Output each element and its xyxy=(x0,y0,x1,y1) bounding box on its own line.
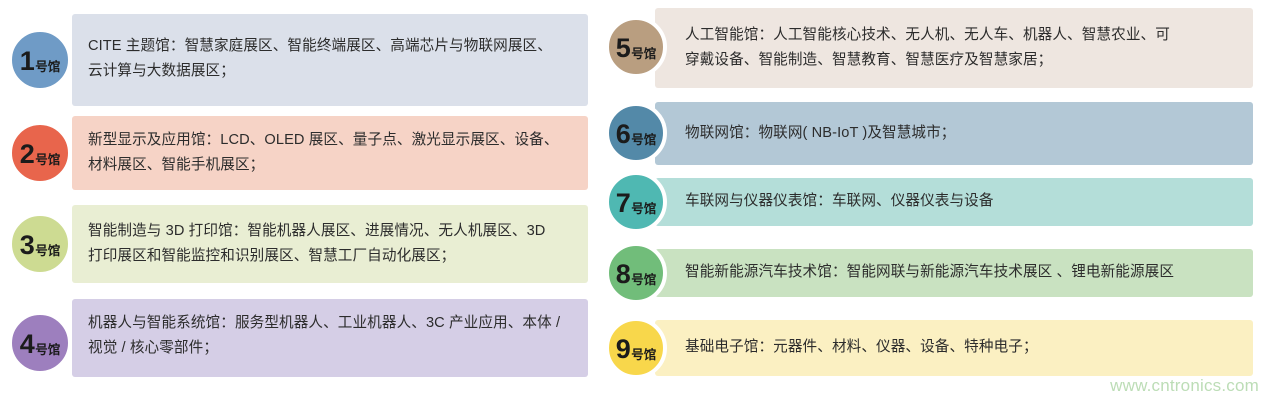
hall-suffix: 号馆 xyxy=(631,349,656,362)
hall-number: 7 xyxy=(616,190,631,217)
hall-suffix: 号馆 xyxy=(35,154,60,167)
hall-badge-inner: 1 号馆 xyxy=(20,48,61,75)
hall-description: 物联网馆：物联网( NB-IoT )及智慧城市； xyxy=(685,121,1245,146)
hall-suffix: 号馆 xyxy=(631,134,656,147)
hall-row[interactable]: 1 号馆 CITE 主题馆：智慧家庭展区、智能终端展区、高端芯片与物联网展区、 … xyxy=(0,14,600,106)
hall-row[interactable]: 2 号馆 新型显示及应用馆：LCD、OLED 展区、量子点、激光显示展区、设备、… xyxy=(0,116,600,190)
hall-number: 1 xyxy=(20,48,35,75)
hall-badge-inner: 4 号馆 xyxy=(20,331,61,358)
hall-row[interactable]: 3 号馆 智能制造与 3D 打印馆：智能机器人展区、进展情况、无人机展区、3D … xyxy=(0,205,600,283)
site-watermark: www.cntronics.com xyxy=(1110,376,1259,396)
hall-number: 2 xyxy=(20,141,35,168)
hall-badge[interactable]: 1 号馆 xyxy=(8,28,72,92)
hall-description: 基础电子馆：元器件、材料、仪器、设备、特种电子； xyxy=(685,335,1245,360)
hall-suffix: 号馆 xyxy=(35,61,60,74)
hall-row[interactable]: 4 号馆 机器人与智能系统馆：服务型机器人、工业机器人、3C 产业应用、本体 /… xyxy=(0,299,600,377)
hall-badge[interactable]: 9 号馆 xyxy=(605,317,667,379)
hall-suffix: 号馆 xyxy=(35,344,60,357)
hall-suffix: 号馆 xyxy=(631,48,656,61)
hall-badge-inner: 3 号馆 xyxy=(20,232,61,259)
hall-number: 8 xyxy=(616,261,631,288)
hall-badge-inner: 9 号馆 xyxy=(616,336,657,363)
hall-badge-inner: 8 号馆 xyxy=(616,261,657,288)
hall-row[interactable]: 7 号馆 车联网与仪器仪表馆：车联网、仪器仪表与设备 xyxy=(600,178,1269,226)
hall-badge[interactable]: 7 号馆 xyxy=(605,171,667,233)
hall-badge-inner: 6 号馆 xyxy=(616,121,657,148)
hall-description: 车联网与仪器仪表馆：车联网、仪器仪表与设备 xyxy=(685,189,1245,214)
hall-column-right: 5 号馆 人工智能馆：人工智能核心技术、无人机、无人车、机器人、智慧农业、可 穿… xyxy=(600,0,1269,404)
hall-description: CITE 主题馆：智慧家庭展区、智能终端展区、高端芯片与物联网展区、 云计算与大… xyxy=(88,34,580,84)
hall-row[interactable]: 9 号馆 基础电子馆：元器件、材料、仪器、设备、特种电子； xyxy=(600,320,1269,376)
hall-badge[interactable]: 6 号馆 xyxy=(605,102,667,164)
hall-suffix: 号馆 xyxy=(35,245,60,258)
hall-badge[interactable]: 8 号馆 xyxy=(605,242,667,304)
hall-badge-inner: 2 号馆 xyxy=(20,141,61,168)
hall-number: 6 xyxy=(616,121,631,148)
hall-description: 智能制造与 3D 打印馆：智能机器人展区、进展情况、无人机展区、3D 打印展区和… xyxy=(88,219,580,269)
hall-suffix: 号馆 xyxy=(631,203,656,216)
hall-badge-inner: 7 号馆 xyxy=(616,190,657,217)
hall-description: 机器人与智能系统馆：服务型机器人、工业机器人、3C 产业应用、本体 / 视觉 /… xyxy=(88,311,580,361)
hall-row[interactable]: 5 号馆 人工智能馆：人工智能核心技术、无人机、无人车、机器人、智慧农业、可 穿… xyxy=(600,8,1269,88)
hall-description: 智能新能源汽车技术馆：智能网联与新能源汽车技术展区 、锂电新能源展区 xyxy=(685,260,1245,285)
hall-description: 人工智能馆：人工智能核心技术、无人机、无人车、机器人、智慧农业、可 穿戴设备、智… xyxy=(685,23,1245,73)
hall-badge[interactable]: 4 号馆 xyxy=(8,311,72,375)
hall-badge[interactable]: 3 号馆 xyxy=(8,212,72,276)
hall-row[interactable]: 8 号馆 智能新能源汽车技术馆：智能网联与新能源汽车技术展区 、锂电新能源展区 xyxy=(600,249,1269,297)
hall-number: 5 xyxy=(616,35,631,62)
hall-badge[interactable]: 5 号馆 xyxy=(605,16,667,78)
hall-directory-board: 1 号馆 CITE 主题馆：智慧家庭展区、智能终端展区、高端芯片与物联网展区、 … xyxy=(0,0,1269,404)
hall-column-left: 1 号馆 CITE 主题馆：智慧家庭展区、智能终端展区、高端芯片与物联网展区、 … xyxy=(0,0,600,404)
hall-description: 新型显示及应用馆：LCD、OLED 展区、量子点、激光显示展区、设备、 材料展区… xyxy=(88,128,580,178)
hall-suffix: 号馆 xyxy=(631,274,656,287)
hall-badge-inner: 5 号馆 xyxy=(616,35,657,62)
hall-row[interactable]: 6 号馆 物联网馆：物联网( NB-IoT )及智慧城市； xyxy=(600,102,1269,165)
hall-number: 9 xyxy=(616,336,631,363)
hall-number: 4 xyxy=(20,331,35,358)
hall-number: 3 xyxy=(20,232,35,259)
hall-badge[interactable]: 2 号馆 xyxy=(8,121,72,185)
